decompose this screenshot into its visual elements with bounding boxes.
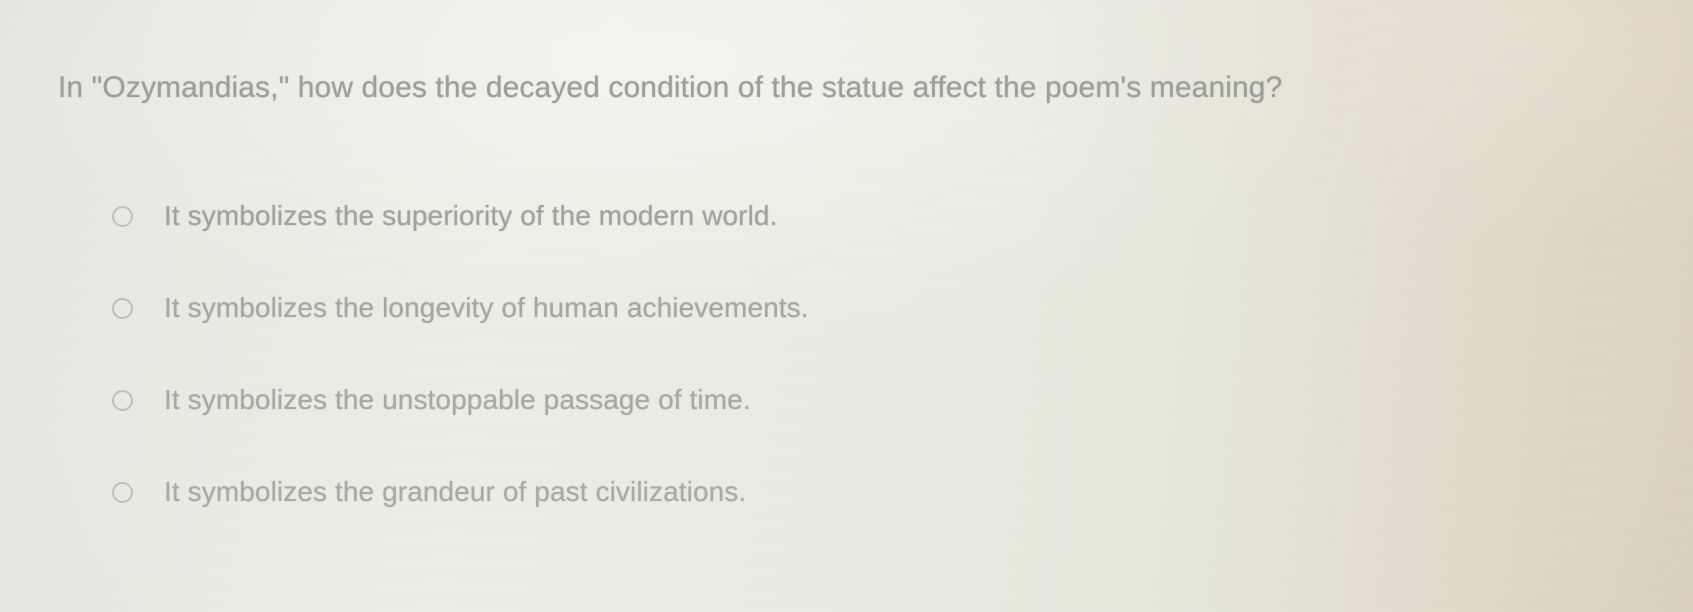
quiz-screen: In "Ozymandias," how does the decayed co… [0, 0, 1693, 612]
radio-unselected-icon[interactable] [112, 482, 133, 503]
answer-options-list: It symbolizes the superiority of the mod… [0, 170, 1693, 538]
quiz-content: In "Ozymandias," how does the decayed co… [0, 0, 1693, 612]
answer-option-label: It symbolizes the unstoppable passage of… [164, 383, 751, 417]
radio-unselected-icon[interactable] [112, 206, 133, 227]
answer-option-label: It symbolizes the grandeur of past civil… [164, 475, 746, 509]
radio-unselected-icon[interactable] [112, 298, 133, 319]
answer-option-3[interactable]: It symbolizes the unstoppable passage of… [0, 354, 1693, 446]
question-text: In "Ozymandias," how does the decayed co… [58, 69, 1282, 107]
answer-option-label: It symbolizes the superiority of the mod… [164, 199, 777, 233]
answer-option-label: It symbolizes the longevity of human ach… [164, 291, 809, 325]
answer-option-2[interactable]: It symbolizes the longevity of human ach… [0, 262, 1693, 354]
answer-option-1[interactable]: It symbolizes the superiority of the mod… [0, 170, 1693, 262]
answer-option-4[interactable]: It symbolizes the grandeur of past civil… [0, 446, 1693, 538]
radio-unselected-icon[interactable] [112, 390, 133, 411]
